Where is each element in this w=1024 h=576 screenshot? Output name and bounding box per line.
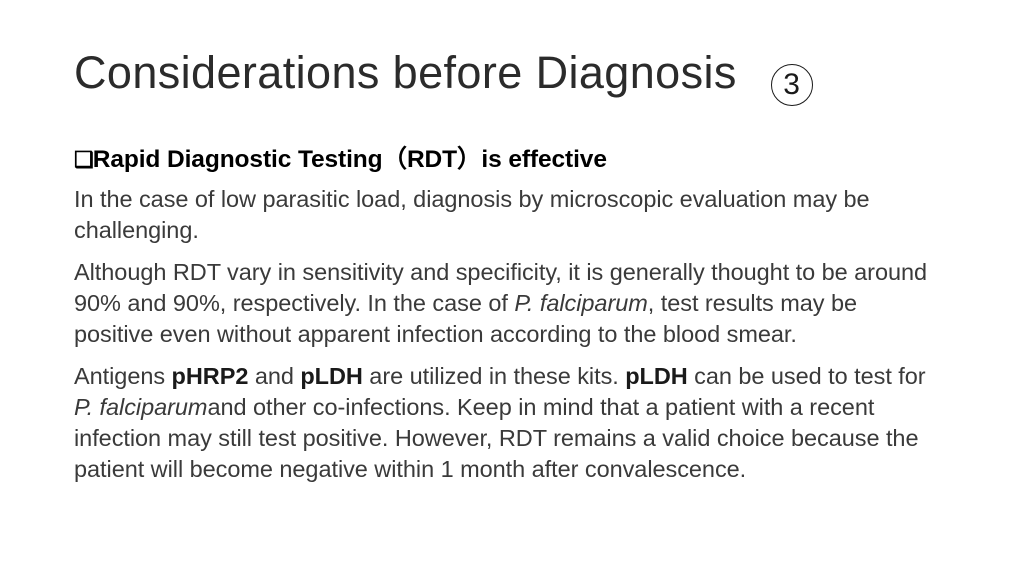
paragraph-3-run-5: are utilized in these kits. (363, 363, 625, 389)
paragraph-2-species-italic: P. falciparum (514, 290, 647, 316)
antigen-pldh-bold-2: pLDH (625, 363, 687, 389)
bullet-heading-text: Rapid Diagnostic Testing（RDT）is effectiv… (93, 146, 607, 173)
page-title: Considerations before Diagnosis3 (74, 49, 954, 106)
antigen-phrp2-bold: pHRP2 (172, 363, 249, 389)
paragraph-3-run-7: can be used to test for (688, 363, 926, 389)
antigen-pldh-bold-1: pLDH (300, 363, 362, 389)
paragraph-1-run-1: In the case of low parasitic load, diagn… (74, 186, 870, 243)
slide-canvas: Considerations before Diagnosis3 ❑Rapid … (0, 0, 1024, 576)
paragraph-2: Although RDT vary in sensitivity and spe… (74, 257, 940, 350)
paragraph-3-species-italic: P. falciparum (74, 394, 207, 420)
slide-body: ❑Rapid Diagnostic Testing（RDT）is effecti… (74, 144, 946, 485)
circled-number-three-icon: 3 (771, 64, 813, 106)
paragraph-3-run-3: and (248, 363, 300, 389)
paragraph-3-run-1: Antigens (74, 363, 172, 389)
page-title-text: Considerations before Diagnosis (74, 47, 737, 98)
hollow-square-bullet-icon: ❑ (74, 147, 93, 172)
paragraph-3: Antigens pHRP2 and pLDH are utilized in … (74, 361, 940, 485)
paragraph-1: In the case of low parasitic load, diagn… (74, 184, 914, 246)
bullet-heading: ❑Rapid Diagnostic Testing（RDT）is effecti… (74, 144, 946, 175)
